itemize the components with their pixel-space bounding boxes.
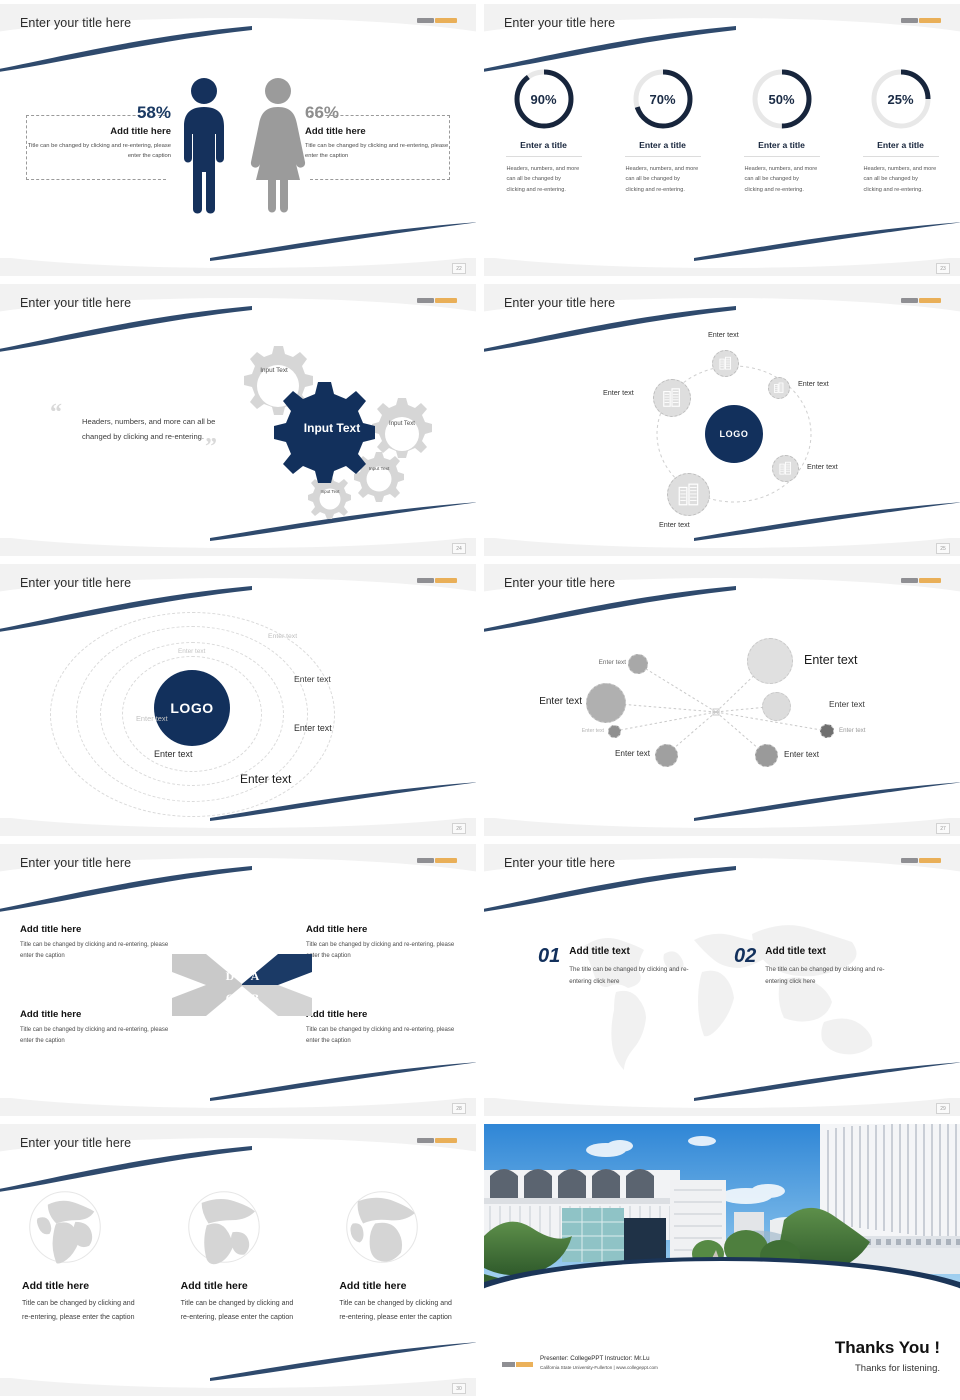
building-icon (718, 356, 733, 371)
slide-canvas: Enter your title here “ Headers, numbers… (0, 284, 476, 556)
network-diagram: Enter text Enter text Enter text Enter t… (484, 564, 960, 836)
orbit-label: Enter text (240, 772, 291, 786)
hub-label: Enter text (708, 330, 739, 339)
network-node[interactable] (628, 654, 648, 674)
donut-body: Headers, numbers, and more can all be ch… (626, 164, 700, 195)
page-title: Enter your title here (504, 296, 615, 310)
donut-title: Enter a title (520, 140, 567, 150)
gear-cluster: Input Text Input Text Input Text Input T… (222, 342, 452, 522)
globe-heading: Add title here (339, 1280, 406, 1292)
slide-numbered-worldmap[interactable]: Enter your title here 01 Add title te (480, 840, 960, 1120)
hub-node[interactable] (653, 379, 691, 417)
slide-concentric-logo[interactable]: Enter your title here LOGO Enter text En… (0, 560, 480, 840)
network-node[interactable] (755, 744, 778, 767)
campus-photo (484, 1124, 960, 1309)
donut-title: Enter a title (877, 140, 924, 150)
building-icon (661, 387, 683, 409)
orbit-label: Enter text (294, 723, 332, 733)
page-number: 29 (936, 1103, 950, 1114)
svg-text:A: A (251, 969, 260, 983)
donut-value: 50% (749, 66, 815, 132)
slide-canvas: Enter your title here 01 Add title te (484, 844, 960, 1116)
page-title: Enter your title here (20, 16, 131, 30)
hub-label: Enter text (807, 462, 838, 471)
globe-body: Title can be changed by clicking and re-… (181, 1297, 299, 1324)
item-body: The title can be changed by clicking and… (765, 964, 895, 989)
quadrant-body: Title can be changed by clicking and re-… (20, 940, 170, 963)
item-body: The title can be changed by clicking and… (569, 964, 699, 989)
page-number: 27 (936, 823, 950, 834)
hub-diagram: Enter text Enter text En (484, 284, 960, 556)
globe-icon-africa (339, 1184, 425, 1270)
slide-canvas: Enter your title here Enter text (484, 284, 960, 556)
quote-close-icon: ” (205, 434, 217, 461)
divider (506, 156, 582, 157)
orbit-label: Enter text (136, 714, 168, 723)
donut-body: Headers, numbers, and more can all be ch… (507, 164, 581, 195)
divider (625, 156, 701, 157)
quadrant-body: Title can be changed by clicking and re-… (306, 940, 456, 963)
divider (863, 156, 939, 157)
gears-icon (222, 342, 452, 522)
brand-logo-icon (901, 297, 947, 304)
slide-gears-quote[interactable]: Enter your title here “ Headers, numbers… (0, 280, 480, 560)
hub-node[interactable] (768, 377, 790, 399)
network-label: Enter text (615, 749, 650, 758)
donut-title: Enter a title (639, 140, 686, 150)
gender-infographic: 58% Add title here Title can be changed … (0, 4, 476, 276)
concentric-diagram: LOGO Enter text Enter text Enter text En… (0, 564, 476, 836)
male-percent: 58% (26, 104, 171, 123)
page-number: 23 (936, 263, 950, 274)
thanks-subtext: Thanks for listening. (835, 1363, 940, 1374)
svg-text:C: C (226, 991, 235, 1005)
quadrant-body: Title can be changed by clicking and re-… (306, 1025, 456, 1048)
network-node[interactable] (747, 638, 793, 684)
network-label: Enter text (784, 750, 819, 759)
donut-chart-25: 25% (868, 66, 934, 132)
numbered-item-02: 02 Add title text The title can be chang… (734, 946, 895, 989)
globe-icon-eurasia (22, 1184, 108, 1270)
page-title: Enter your title here (20, 1136, 131, 1150)
page-title: Enter your title here (504, 856, 615, 870)
brand-logo-icon (502, 1362, 534, 1368)
brand-logo-icon (417, 857, 463, 864)
page-number: 24 (452, 543, 466, 554)
hub-node[interactable] (772, 455, 799, 482)
brand-logo-icon (901, 857, 947, 864)
male-figure-icon (176, 76, 232, 216)
network-label: Enter text (599, 659, 626, 666)
quadrant-heading: Add title here (306, 1009, 456, 1020)
female-percent: 66% (305, 104, 450, 123)
page-title: Enter your title here (20, 856, 131, 870)
brand-logo-icon (901, 17, 947, 24)
page-title: Enter your title here (504, 16, 615, 30)
slide-network-nodes[interactable]: Enter your title here (480, 560, 960, 840)
network-label: Enter text (829, 699, 865, 709)
quadrant-heading: Add title here (20, 924, 170, 935)
globe-item[interactable]: Add title here Title can be changed by c… (0, 1184, 159, 1324)
thanks-block: Thanks You ! Thanks for listening. (835, 1338, 940, 1374)
hub-node[interactable] (712, 350, 739, 377)
quadrant-heading: Add title here (20, 1009, 170, 1020)
quote-text: Headers, numbers, and more can all be ch… (82, 414, 222, 444)
donut-item[interactable]: 90% Enter a title Headers, numbers, and … (484, 66, 603, 195)
network-label: Enter text (539, 696, 582, 707)
quadrant-body: Title can be changed by clicking and re-… (20, 1025, 170, 1048)
divider (744, 156, 820, 157)
donut-chart-70: 70% (630, 66, 696, 132)
center-logo[interactable]: LOGO (154, 670, 230, 746)
hub-core-logo[interactable]: LOGO (705, 405, 763, 463)
network-node[interactable] (762, 692, 791, 721)
network-label: Enter text (839, 727, 865, 734)
globe-heading: Add title here (181, 1280, 248, 1292)
svg-text:B: B (251, 991, 259, 1005)
world-map-icon (544, 904, 904, 1084)
brand-logo-icon (901, 577, 947, 584)
network-label: Enter text (582, 728, 604, 734)
slide-donut-percentages[interactable]: Enter your title here 90% Enter a title … (480, 0, 960, 280)
building-icon (676, 482, 702, 508)
donut-chart-50: 50% (749, 66, 815, 132)
globe-row: Add title here Title can be changed by c… (0, 1184, 476, 1324)
donut-chart-90: 90% (511, 66, 577, 132)
donut-value: 70% (630, 66, 696, 132)
quadrant-block-top-right: Add title here Title can be changed by c… (306, 924, 456, 963)
female-stat-block: 66% Add title here Title can be changed … (305, 104, 450, 161)
brand-logo-icon (417, 17, 463, 24)
slide-canvas: Enter your title here Add title here Tit… (0, 844, 476, 1116)
slide-deck: Enter your title here 58% Add title here… (0, 0, 960, 1400)
network-node[interactable] (655, 744, 678, 767)
quadrant-block-bottom-right: Add title here Title can be changed by c… (306, 1009, 456, 1048)
orbit-label: Enter text (154, 749, 193, 759)
presenter-line: Presenter: CollegePPT Instructor: Mr.Lu (540, 1355, 658, 1362)
quadrant-block-top-left: Add title here Title can be changed by c… (20, 924, 170, 963)
male-heading: Add title here (26, 126, 171, 137)
donut-item[interactable]: 25% Enter a title Headers, numbers, and … (841, 66, 960, 195)
page-number: 26 (452, 823, 466, 834)
hub-label: Enter text (603, 388, 634, 397)
hub-node[interactable] (667, 473, 710, 516)
affiliation-line: California State University-Fullerton | … (540, 1365, 658, 1370)
female-figure-icon (248, 76, 308, 216)
globe-icon-americas (181, 1184, 267, 1270)
item-heading: Add title text (765, 946, 895, 957)
network-label: Enter text (804, 653, 858, 667)
slide-canvas: Enter your title here LOGO Enter text En… (0, 564, 476, 836)
donut-value: 90% (511, 66, 577, 132)
item-heading: Add title text (569, 946, 699, 957)
globe-body: Title can be changed by clicking and re-… (339, 1297, 457, 1324)
building-icon (778, 461, 793, 476)
page-number: 25 (936, 543, 950, 554)
donut-value: 25% (868, 66, 934, 132)
item-number: 02 (734, 946, 756, 989)
page-title: Enter your title here (20, 296, 131, 310)
slide-thanks-closing[interactable]: Presenter: CollegePPT Instructor: Mr.Lu … (480, 1120, 960, 1400)
brand-logo-icon (417, 297, 463, 304)
page-title: Enter your title here (504, 576, 615, 590)
donut-item[interactable]: 70% Enter a title Headers, numbers, and … (603, 66, 722, 195)
network-node[interactable] (586, 683, 626, 723)
globe-heading: Add title here (22, 1280, 89, 1292)
slide-canvas: Enter your title here 90% Enter a title … (484, 4, 960, 276)
thanks-heading: Thanks You ! (835, 1338, 940, 1358)
male-body: Title can be changed by clicking and re-… (26, 141, 171, 161)
page-number: 30 (452, 1383, 466, 1394)
slide-gender-comparison[interactable]: Enter your title here 58% Add title here… (0, 0, 480, 280)
donut-item[interactable]: 50% Enter a title Headers, numbers, and … (722, 66, 841, 195)
slide-canvas: Enter your title here (484, 564, 960, 836)
donut-body: Headers, numbers, and more can all be ch… (745, 164, 819, 195)
orbit-label: Enter text (268, 633, 297, 640)
slide-canvas: Enter your title here Add title here (0, 1124, 476, 1396)
donut-row: 90% Enter a title Headers, numbers, and … (484, 66, 960, 195)
item-number: 01 (538, 946, 560, 989)
slide-canvas: Presenter: CollegePPT Instructor: Mr.Lu … (484, 1124, 960, 1396)
slide-x-quadrant[interactable]: Enter your title here Add title here Tit… (0, 840, 480, 1120)
numbered-item-01: 01 Add title text The title can be chang… (538, 946, 699, 989)
hub-label: Enter text (798, 379, 829, 388)
page-title: Enter your title here (20, 576, 131, 590)
globe-body: Title can be changed by clicking and re-… (22, 1297, 140, 1324)
page-number: 28 (452, 1103, 466, 1114)
orbit-label: Enter text (294, 674, 331, 684)
svg-text:D: D (226, 969, 235, 983)
x-shape-diagram: D A C B (170, 944, 314, 1026)
globe-item[interactable]: Add title here Title can be changed by c… (159, 1184, 318, 1324)
page-number: 22 (452, 263, 466, 274)
slide-logo-hub-buildings[interactable]: Enter your title here Enter text (480, 280, 960, 560)
brand-logo-icon (417, 577, 463, 584)
hub-label: Enter text (659, 520, 690, 529)
quote-open-icon: “ (50, 400, 62, 427)
building-icon (773, 382, 785, 394)
slide-canvas: Enter your title here 58% Add title here… (0, 4, 476, 276)
network-node[interactable] (608, 725, 621, 738)
globe-item[interactable]: Add title here Title can be changed by c… (317, 1184, 476, 1324)
donut-body: Headers, numbers, and more can all be ch… (864, 164, 938, 195)
orbit-label: Enter text (178, 648, 205, 655)
network-node[interactable] (820, 724, 834, 738)
presenter-info: Presenter: CollegePPT Instructor: Mr.Lu … (540, 1355, 658, 1370)
quadrant-block-bottom-left: Add title here Title can be changed by c… (20, 1009, 170, 1048)
male-stat-block: 58% Add title here Title can be changed … (26, 104, 171, 161)
female-body: Title can be changed by clicking and re-… (305, 141, 450, 161)
female-heading: Add title here (305, 126, 450, 137)
x-ribbon-icon: D A C B (170, 944, 314, 1026)
brand-logo-icon (417, 1137, 463, 1144)
slide-three-globes[interactable]: Enter your title here Add title here (0, 1120, 480, 1400)
quadrant-heading: Add title here (306, 924, 456, 935)
donut-title: Enter a title (758, 140, 805, 150)
